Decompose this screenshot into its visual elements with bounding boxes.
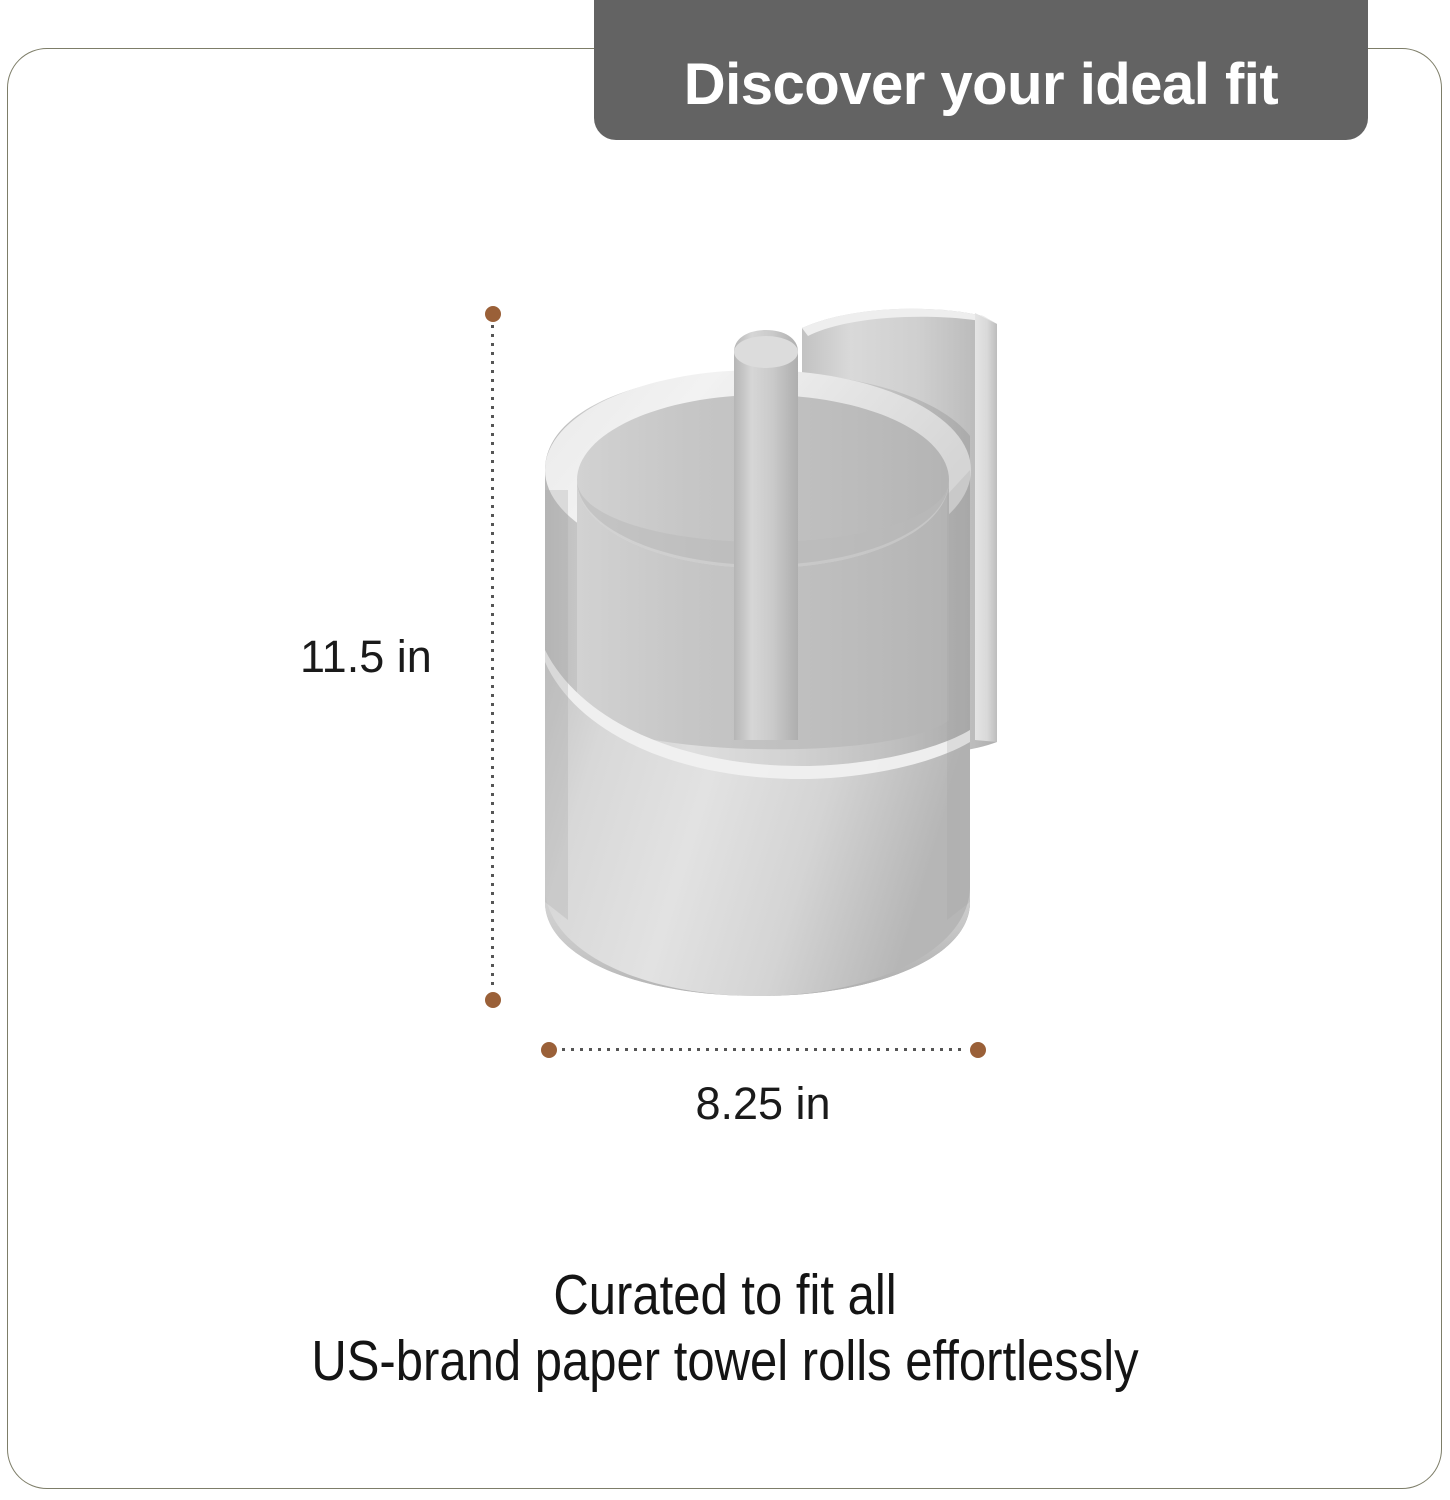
width-marker-left [541,1042,557,1058]
width-dimension-label: 8.25 in [548,1078,978,1130]
width-marker-right [970,1042,986,1058]
left-edge-shadow [545,490,568,920]
back-wall-edge-highlight [975,313,997,742]
right-edge-shadow [947,470,970,920]
width-dimension-line [562,1048,966,1051]
center-rod-top-cap [734,336,798,368]
width-dimension-label-wrap: 8.25 in [548,1078,978,1130]
caption-block: Curated to fit all US-brand paper towel … [102,1262,1349,1394]
product-illustration [520,290,1020,1030]
caption-line-2: US-brand paper towel rolls effortlessly [102,1328,1349,1394]
height-marker-top [485,306,501,322]
height-dimension-label: 11.5 in [300,631,432,683]
infographic-page: Discover your ideal fit [0,0,1450,1500]
header-banner: Discover your ideal fit [594,0,1368,140]
height-dimension-line [491,325,494,989]
height-marker-bottom [485,992,501,1008]
banner-title: Discover your ideal fit [684,56,1278,114]
caption-line-1: Curated to fit all [102,1262,1349,1328]
center-rod [734,330,798,740]
